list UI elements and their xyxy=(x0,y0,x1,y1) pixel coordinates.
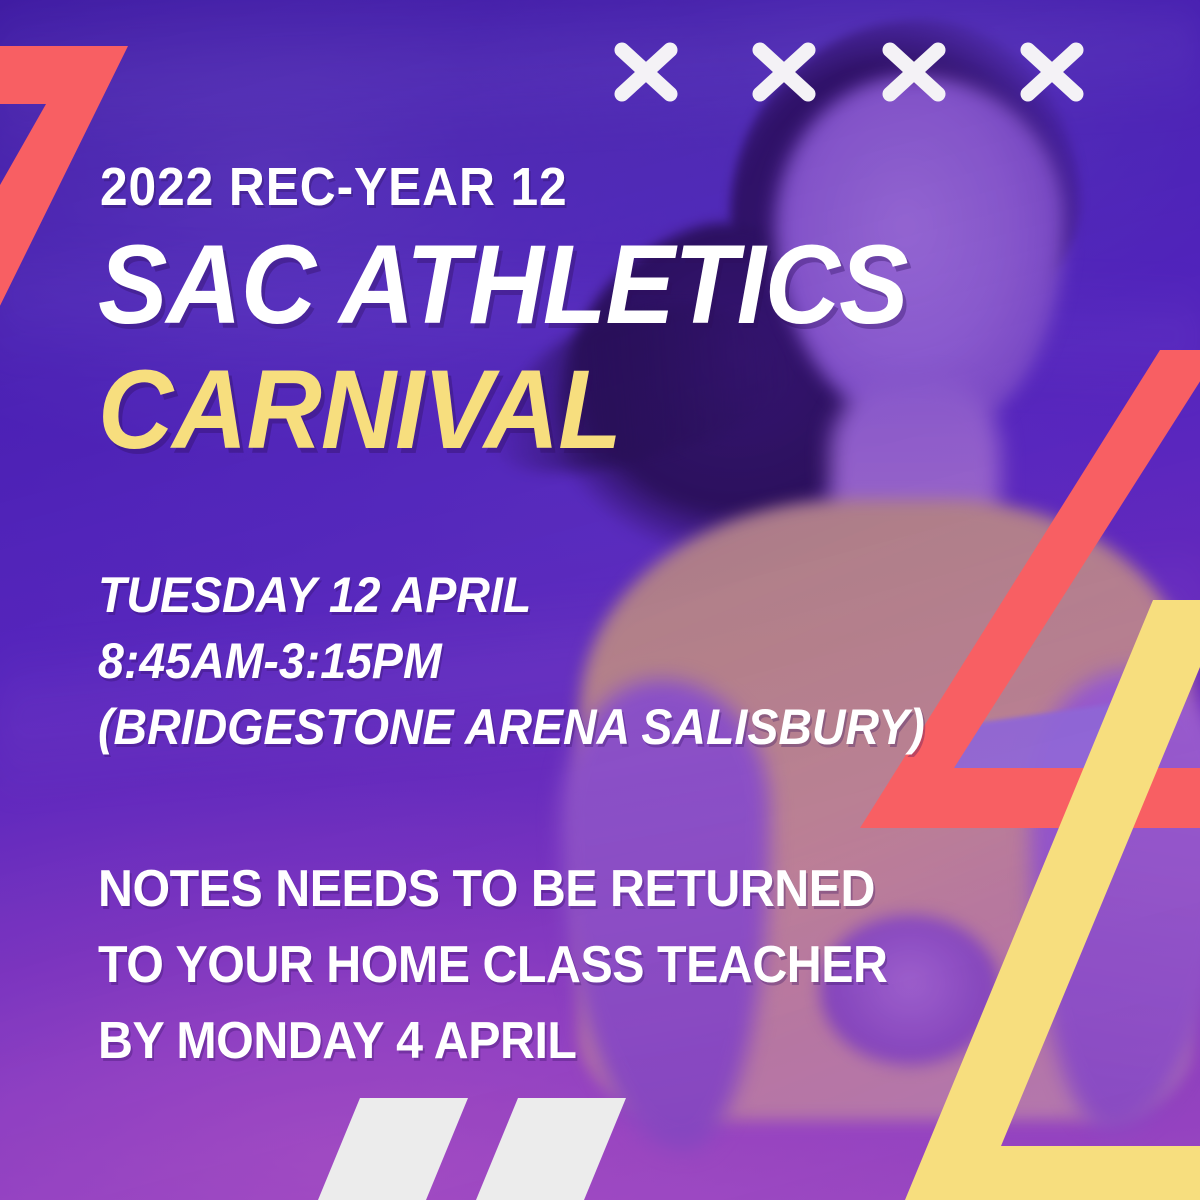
poster-title: SAC ATHLETICS xyxy=(98,233,908,336)
event-venue: (BRIDGESTONE ARENA SALISBURY) xyxy=(98,694,925,760)
notice-line-3: BY MONDAY 4 APRIL xyxy=(98,1004,888,1080)
eyebrow-text: 2022 REC-YEAR 12 xyxy=(100,160,568,214)
poster-content: 2022 REC-YEAR 12 SAC ATHLETICS CARNIVAL … xyxy=(92,0,1052,1200)
notice-line-2: TO YOUR HOME CLASS TEACHER xyxy=(98,928,888,1004)
event-time: 8:45AM-3:15PM xyxy=(98,628,925,694)
event-date: TUESDAY 12 APRIL xyxy=(98,562,925,628)
notice-line-1: NOTES NEEDS TO BE RETURNED xyxy=(98,852,888,928)
poster-canvas: 2022 REC-YEAR 12 SAC ATHLETICS CARNIVAL … xyxy=(0,0,1200,1200)
notice-block: NOTES NEEDS TO BE RETURNED TO YOUR HOME … xyxy=(98,852,947,1080)
event-details-block: TUESDAY 12 APRIL 8:45AM-3:15PM (BRIDGEST… xyxy=(98,562,987,760)
poster-subtitle: CARNIVAL xyxy=(98,358,621,461)
